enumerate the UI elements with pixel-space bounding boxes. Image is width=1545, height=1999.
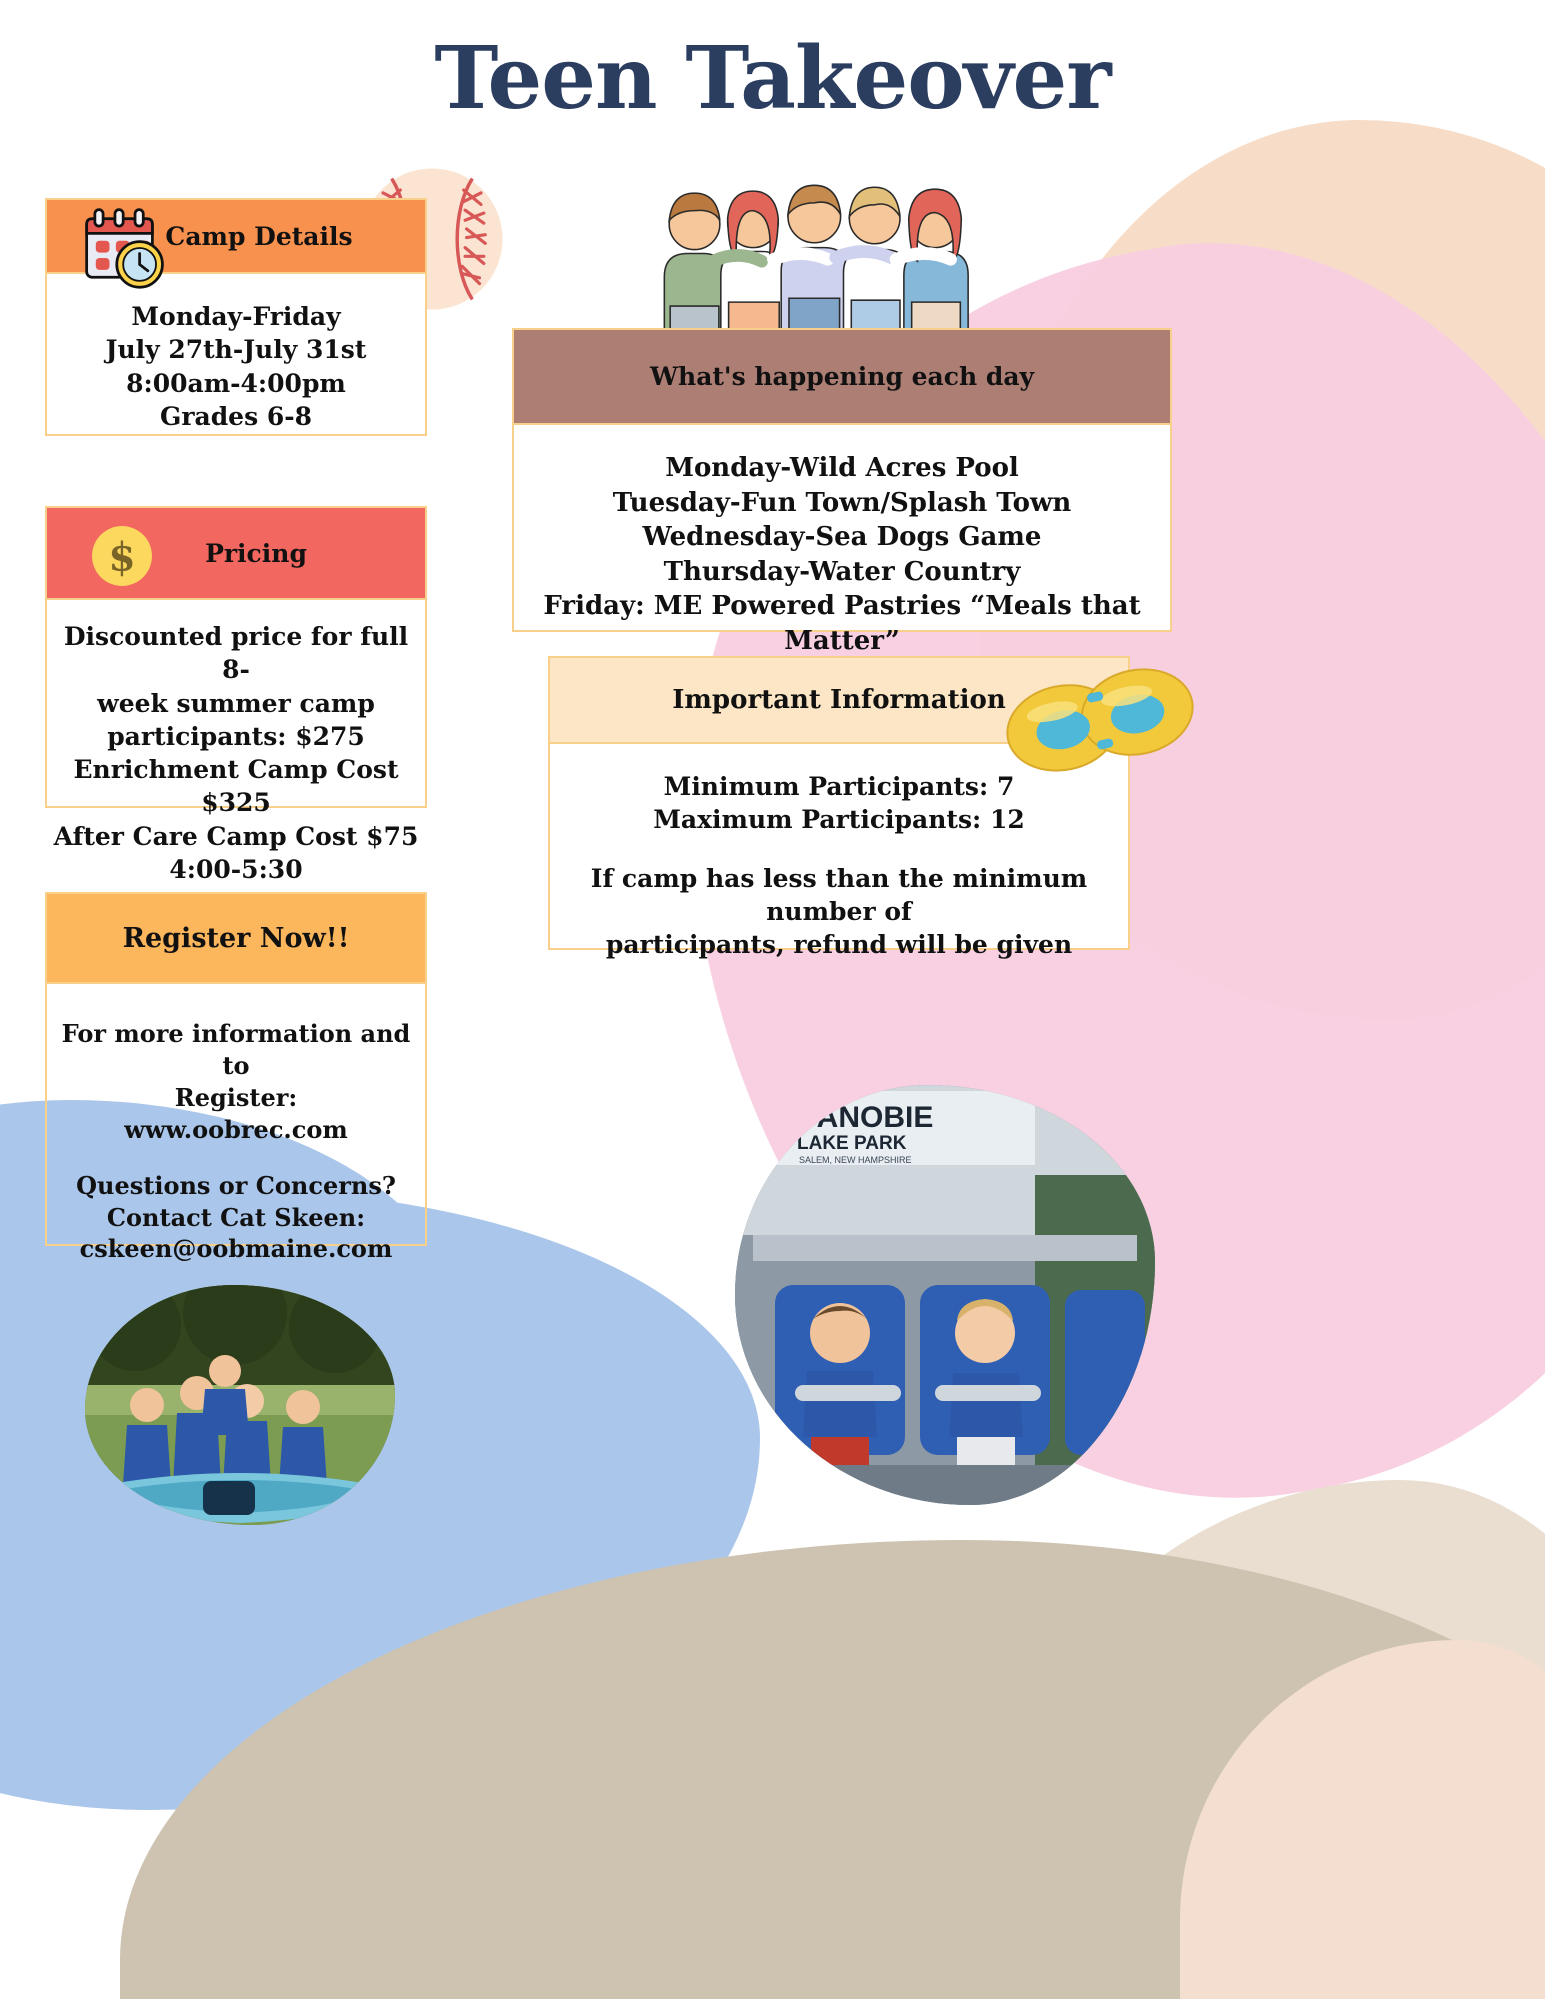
pricing-line: Enrichment Camp Cost $325 xyxy=(47,753,425,820)
background-blob-cream xyxy=(1180,1640,1545,1999)
schedule-line: Tuesday-Fun Town/Splash Town xyxy=(514,486,1170,521)
coaster-photo: CANOBIE LAKE PARK SALEM, NEW HAMPSHIRE xyxy=(735,1085,1155,1505)
schedule-body: Monday-Wild Acres Pool Tuesday-Fun Town/… xyxy=(512,425,1172,632)
register-line: For more information and to xyxy=(47,1018,425,1082)
schedule-heading: What's happening each day xyxy=(650,362,1034,391)
camp-details-line: Monday-Friday xyxy=(47,300,425,333)
important-info-card: Important Information Minimum Participan… xyxy=(548,656,1130,950)
register-card[interactable]: Register Now!! For more information and … xyxy=(45,892,427,1246)
camp-details-line: 8:00am-4:00pm xyxy=(47,367,425,400)
pricing-line: Discounted price for full 8- xyxy=(47,620,425,687)
register-line: Register: xyxy=(47,1082,425,1114)
important-info-spacer xyxy=(550,837,1128,862)
coaster-sign-line1: CANOBIE xyxy=(795,1101,933,1134)
coaster-sign-line2: LAKE PARK xyxy=(797,1133,907,1154)
register-heading: Register Now!! xyxy=(123,923,350,954)
important-info-line: Minimum Participants: 7 xyxy=(550,770,1128,803)
calendar-clock-icon xyxy=(79,206,171,290)
pricing-heading: Pricing xyxy=(205,539,307,568)
schedule-line: Friday: ME Powered Pastries “Meals that … xyxy=(514,589,1170,658)
background-blob-tan-secondary xyxy=(980,1480,1545,1999)
coaster-sign-line3: SALEM, NEW HAMPSHIRE xyxy=(799,1155,912,1165)
camp-details-heading: Camp Details xyxy=(165,222,352,251)
camp-details-card: Camp Details Monday-Friday July 27th-Jul… xyxy=(45,198,427,436)
camp-details-line: Grades 6-8 xyxy=(47,400,425,433)
pricing-body: Discounted price for full 8- week summer… xyxy=(45,600,427,808)
teens-group-illustration xyxy=(640,160,1010,345)
pricing-line: After Care Camp Cost $75 xyxy=(47,820,425,853)
register-header: Register Now!! xyxy=(45,892,427,984)
register-email[interactable]: cskeen@oobmaine.com xyxy=(47,1233,425,1265)
kids-kayak-photo xyxy=(85,1285,395,1525)
important-info-header: Important Information xyxy=(548,656,1130,744)
schedule-card: What's happening each day Monday-Wild Ac… xyxy=(512,328,1172,632)
pool-float-icon xyxy=(1000,668,1200,773)
pricing-line: 4:00-5:30 xyxy=(47,853,425,886)
dollar-coin-icon: $ xyxy=(91,525,153,587)
schedule-line: Monday-Wild Acres Pool xyxy=(514,451,1170,486)
register-line: Questions or Concerns? xyxy=(47,1170,425,1202)
camp-details-header: Camp Details xyxy=(45,198,427,274)
page-title: Teen Takeover xyxy=(0,28,1545,129)
register-line: Contact Cat Skeen: xyxy=(47,1202,425,1234)
svg-text:$: $ xyxy=(108,534,135,580)
background-blob-tan xyxy=(120,1540,1545,1999)
register-body: For more information and to Register: ww… xyxy=(45,984,427,1246)
pricing-line: participants: $275 xyxy=(47,720,425,753)
schedule-line: Thursday-Water Country xyxy=(514,555,1170,590)
important-info-line: If camp has less than the minimum number… xyxy=(550,862,1128,929)
register-website[interactable]: www.oobrec.com xyxy=(47,1114,425,1146)
camp-details-body: Monday-Friday July 27th-July 31st 8:00am… xyxy=(45,274,427,436)
flyer-page: Teen Takeover xyxy=(0,0,1545,1999)
register-spacer xyxy=(47,1146,425,1170)
camp-details-line: July 27th-July 31st xyxy=(47,333,425,366)
pricing-card: $ Pricing Discounted price for full 8- w… xyxy=(45,506,427,808)
schedule-header: What's happening each day xyxy=(512,328,1172,425)
pricing-line: week summer camp xyxy=(47,687,425,720)
pricing-header: $ Pricing xyxy=(45,506,427,600)
important-info-line: Maximum Participants: 12 xyxy=(550,803,1128,836)
important-info-line: participants, refund will be given xyxy=(550,928,1128,961)
important-info-body: Minimum Participants: 7 Maximum Particip… xyxy=(548,744,1130,950)
background-blob-blue xyxy=(0,1190,760,1810)
schedule-line: Wednesday-Sea Dogs Game xyxy=(514,520,1170,555)
important-info-heading: Important Information xyxy=(672,685,1006,715)
